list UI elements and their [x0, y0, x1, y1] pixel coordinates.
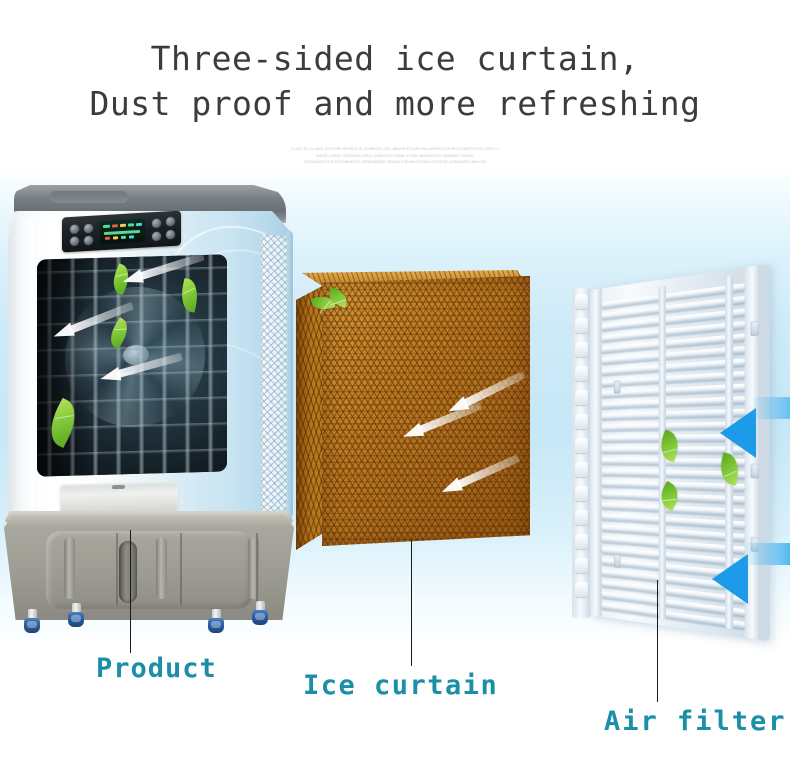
filter-latch[interactable]	[751, 463, 759, 478]
air-filter-panel	[572, 282, 787, 627]
callout-pointer-air-filter	[657, 580, 658, 702]
label-air-filter: Air filter	[604, 706, 787, 737]
control-button[interactable]	[70, 225, 79, 235]
caster-wheel	[252, 601, 268, 627]
cooler-left-facet	[8, 215, 34, 533]
callout-pointer-product	[130, 530, 131, 653]
cooler-side-edge	[287, 231, 293, 517]
fine-print-line-3: FJKDSLKDSGFHFD-SJLFDSBLNFDSL-SKFDDLKSJKD…	[0, 159, 790, 166]
control-button[interactable]	[70, 237, 79, 247]
product-infographic-canvas: Three-sided ice curtain, Dust proof and …	[0, 0, 790, 773]
product-air-cooler	[4, 185, 296, 650]
water-tank-base	[4, 515, 294, 620]
ice-curtain-pad	[296, 262, 541, 562]
cooler-top-handle	[50, 191, 128, 203]
cooler-side-vent-mesh	[261, 234, 288, 514]
pad-front-face	[322, 276, 530, 546]
caster-wheel	[208, 609, 224, 635]
tank-level-window	[119, 541, 137, 603]
filter-latch[interactable]	[614, 380, 621, 394]
filter-hinge-spine	[572, 288, 591, 618]
headline-line-2: Dust proof and more refreshing	[0, 81, 790, 126]
filter-latch[interactable]	[751, 321, 759, 337]
control-panel-display	[100, 219, 145, 245]
caster-wheel	[68, 603, 84, 629]
label-product: Product	[96, 653, 217, 684]
headline-line-1: Three-sided ice curtain,	[151, 39, 640, 78]
control-button[interactable]	[84, 236, 93, 246]
callout-pointer-ice-curtain	[411, 540, 412, 666]
page-title: Three-sided ice curtain, Dust proof and …	[0, 36, 790, 126]
pad-side-edge	[296, 284, 326, 550]
caster-wheel	[24, 609, 40, 635]
control-button[interactable]	[166, 217, 175, 227]
base-recess	[46, 531, 252, 609]
drawer-handle[interactable]	[112, 485, 125, 489]
control-button[interactable]	[152, 232, 161, 242]
control-button[interactable]	[166, 230, 175, 240]
control-button[interactable]	[84, 224, 93, 234]
control-button[interactable]	[152, 219, 161, 229]
front-grille	[37, 254, 227, 476]
fine-print-text: CL-ACF-DL-DL-AND1-KDFCFHM-3DFHDQF-AL-SDV…	[0, 146, 790, 172]
control-panel[interactable]	[62, 210, 181, 252]
label-ice-curtain: Ice curtain	[303, 670, 498, 701]
filter-latch[interactable]	[614, 554, 621, 568]
